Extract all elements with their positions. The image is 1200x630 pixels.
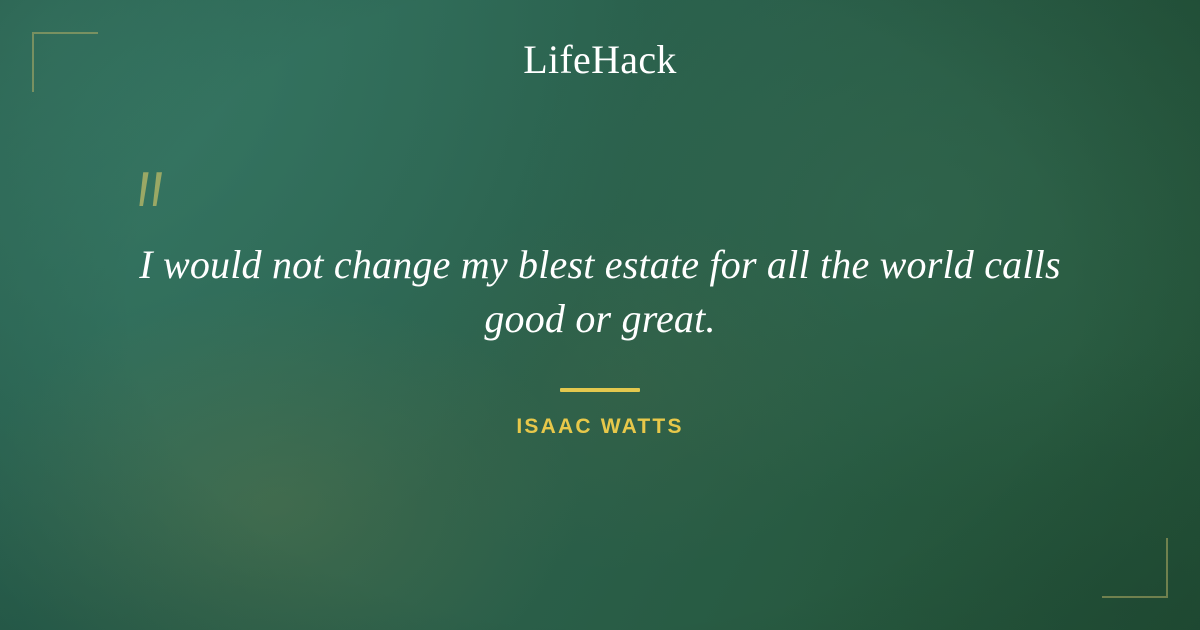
- quote-card: LifeHack I would not change my blest est…: [0, 0, 1200, 630]
- quote-author: ISAAC WATTS: [0, 415, 1200, 439]
- quotation-mark-icon: [130, 170, 174, 216]
- quote-text: I would not change my blest estate for a…: [0, 170, 1200, 346]
- divider-rule: [560, 388, 640, 392]
- corner-bracket-bottom-right-icon: [1102, 538, 1168, 598]
- lifehack-logo: LifeHack: [0, 38, 1200, 82]
- quote-block: I would not change my blest estate for a…: [0, 170, 1200, 439]
